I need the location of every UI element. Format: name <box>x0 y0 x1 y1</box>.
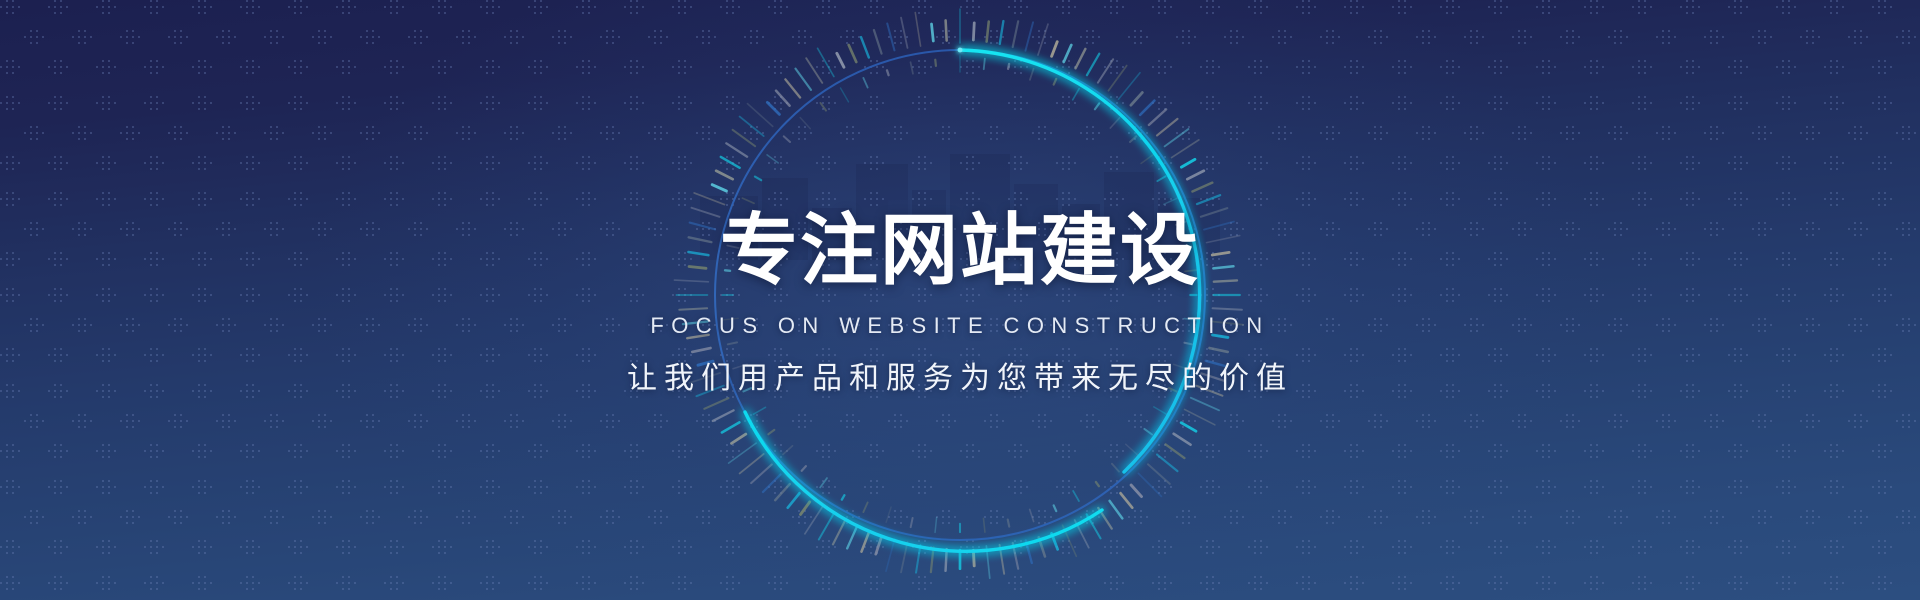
page-subtitle: FOCUS ON WEBSITE CONSTRUCTION <box>650 315 1269 337</box>
page-title: 专注网站建设 <box>720 211 1200 289</box>
banner-text-block: 专注网站建设 FOCUS ON WEBSITE CONSTRUCTION 让我们… <box>0 0 1920 600</box>
hero-banner: 专注网站建设 FOCUS ON WEBSITE CONSTRUCTION 让我们… <box>0 0 1920 600</box>
page-tagline: 让我们用产品和服务为您带来无尽的价值 <box>627 364 1293 394</box>
